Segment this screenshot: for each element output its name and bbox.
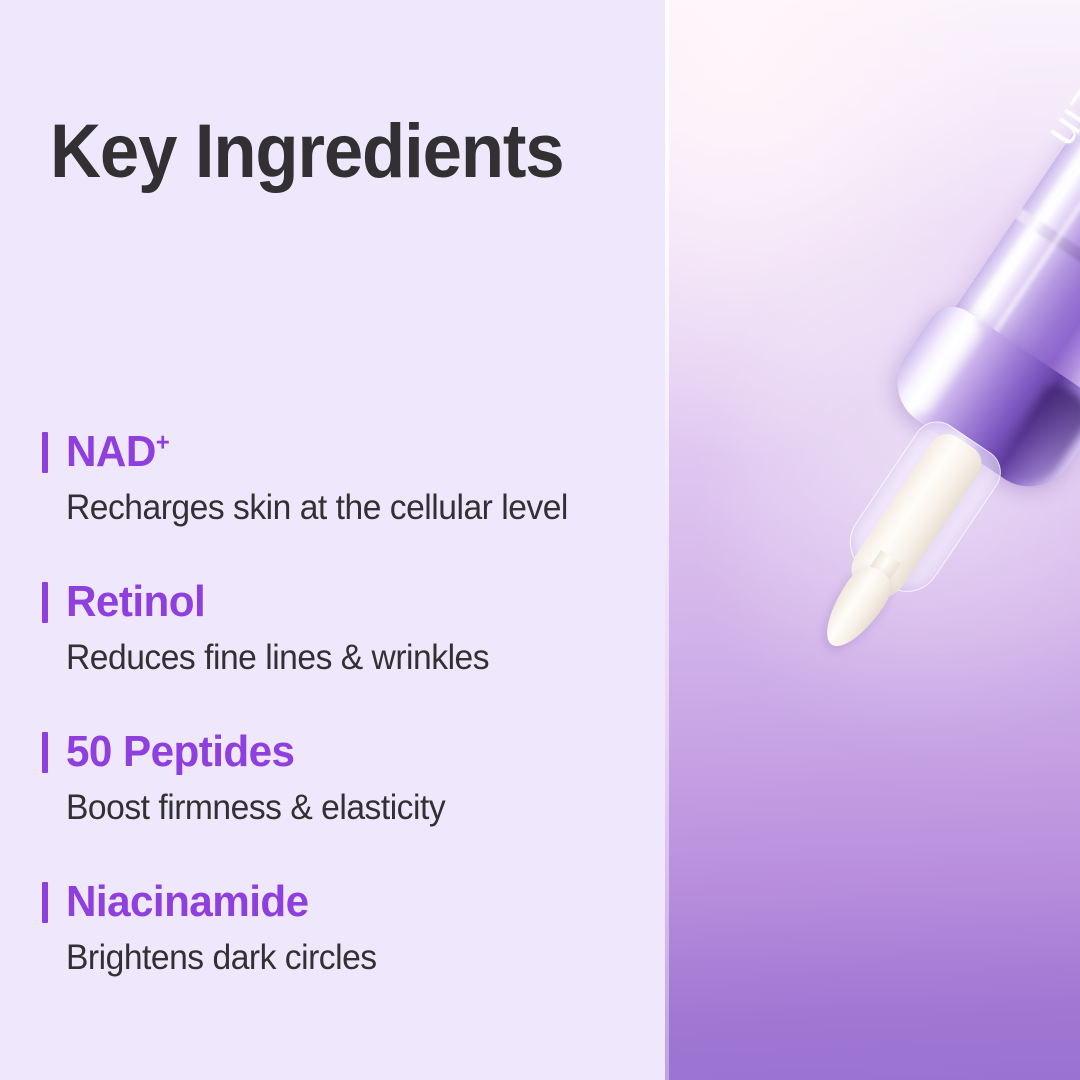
ingredient-name: NAD+ [66, 424, 169, 480]
ingredient-name: Niacinamide [66, 874, 309, 930]
ingredient-superscript: + [156, 428, 169, 456]
ingredients-infographic: Key Ingredients NAD+ Recharges skin at t… [0, 0, 1080, 1080]
page-title: Key Ingredients [50, 108, 564, 195]
ingredient-name-text: Retinol [66, 577, 205, 626]
product-image-panel: numbuzin NAD+ R [665, 0, 1080, 1080]
ingredient-name-text: Niacinamide [66, 877, 309, 926]
accent-bar-icon [42, 882, 48, 923]
ingredient-item-niacinamide: Niacinamide Brightens dark circles [0, 874, 665, 1024]
ingredient-name-text: NAD [66, 427, 156, 476]
accent-bar-icon [42, 432, 48, 473]
ingredient-description: Recharges skin at the cellular level [66, 486, 568, 530]
ingredient-item-nad: NAD+ Recharges skin at the cellular leve… [0, 424, 665, 574]
ingredient-list: NAD+ Recharges skin at the cellular leve… [0, 424, 665, 1024]
ingredient-item-50-peptides: 50 Peptides Boost firmness & elasticity [0, 724, 665, 874]
ingredient-description: Reduces fine lines & wrinkles [66, 636, 489, 680]
accent-bar-icon [42, 732, 48, 773]
accent-bar-icon [42, 582, 48, 623]
ingredient-name: 50 Peptides [66, 724, 294, 780]
ingredient-description: Brightens dark circles [66, 936, 377, 980]
ingredient-item-retinol: Retinol Reduces fine lines & wrinkles [0, 574, 665, 724]
panel-divider [665, 0, 669, 1080]
ingredient-name: Retinol [66, 574, 205, 630]
ingredient-name-text: 50 Peptides [66, 727, 294, 776]
ingredient-description: Boost firmness & elasticity [66, 786, 445, 830]
product-brand-label: numbuzin [1039, 0, 1080, 157]
left-content-panel: Key Ingredients NAD+ Recharges skin at t… [0, 0, 665, 1080]
